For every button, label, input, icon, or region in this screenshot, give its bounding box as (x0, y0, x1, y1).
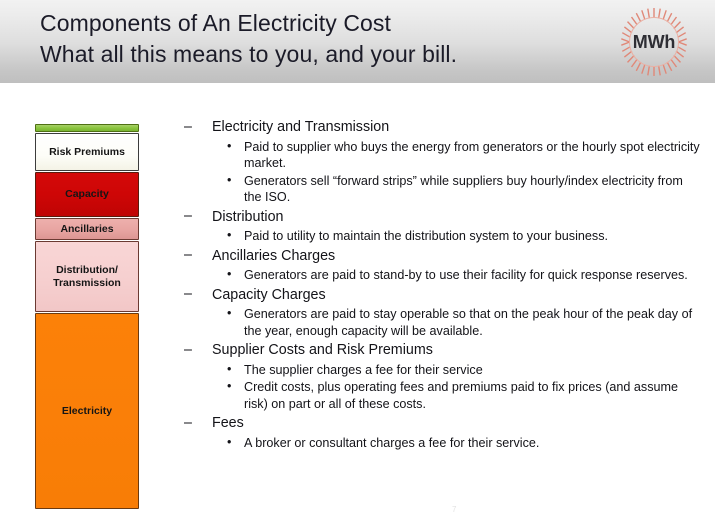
bullet-heading: –Electricity and Transmission (178, 117, 702, 138)
bullet-sub-item: •Generators sell “forward strips” while … (178, 173, 702, 206)
bullet-sub-label: Paid to utility to maintain the distribu… (244, 229, 608, 243)
slide-footer: 7 (0, 505, 715, 516)
electricity-cost-stacked-bar: Risk Premiums Capacity Ancillaries Distr… (35, 124, 139, 510)
bullet-sub-item: •Paid to utility to maintain the distrib… (178, 228, 702, 245)
dash-marker-icon: – (184, 413, 192, 434)
bullet-sub-label: Generators sell “forward strips” while s… (244, 174, 683, 205)
bar-segment-capacity: Capacity (35, 172, 139, 217)
bullet-content: –Electricity and Transmission•Paid to su… (178, 117, 702, 452)
bullet-heading-label: Ancillaries Charges (212, 248, 335, 264)
bullet-heading: –Distribution (178, 207, 702, 228)
bullet-sub-label: Generators are paid to stay operable so … (244, 307, 692, 338)
bullet-heading-label: Fees (212, 415, 244, 431)
dash-marker-icon: – (184, 206, 192, 227)
bullet-sub-label: The supplier charges a fee for their ser… (244, 363, 483, 377)
bullet-heading: –Fees (178, 413, 702, 434)
bullet-heading-label: Distribution (212, 209, 284, 225)
bullet-sub-label: Paid to supplier who buys the energy fro… (244, 140, 700, 171)
bullet-heading-label: Capacity Charges (212, 287, 326, 303)
bullet-sub-item: •Credit costs, plus operating fees and p… (178, 379, 702, 412)
mwh-logo: MWh (615, 3, 693, 81)
page-number: 7 (452, 505, 456, 514)
bullet-dot-icon: • (227, 172, 231, 189)
slide-header-band: Components of An Electricity Cost What a… (0, 0, 715, 83)
bullet-heading: –Capacity Charges (178, 285, 702, 306)
title-line-2: What all this means to you, and your bil… (40, 39, 600, 70)
bullet-dot-icon: • (227, 266, 231, 283)
bullet-dot-icon: • (227, 227, 231, 244)
bar-segment-ancillaries: Ancillaries (35, 218, 139, 240)
bullet-sub-label: A broker or consultant charges a fee for… (244, 436, 539, 450)
dash-marker-icon: – (184, 340, 192, 361)
bar-segment-electricity: Electricity (35, 313, 139, 509)
bullet-heading: –Supplier Costs and Risk Premiums (178, 340, 702, 361)
bar-segment-fees (35, 124, 139, 132)
bullet-sub-item: •Generators are paid to stand-by to use … (178, 267, 702, 284)
bullet-heading-label: Electricity and Transmission (212, 119, 389, 135)
dash-marker-icon: – (184, 284, 192, 305)
bullet-dot-icon: • (227, 378, 231, 395)
bullet-dot-icon: • (227, 138, 231, 155)
title-line-1: Components of An Electricity Cost (40, 8, 600, 39)
bullet-sub-item: •The supplier charges a fee for their se… (178, 362, 702, 379)
bullet-sub-item: •A broker or consultant charges a fee fo… (178, 435, 702, 452)
mwh-logo-label: MWh (615, 3, 693, 81)
bar-segment-distribution: Distribution/ Transmission (35, 241, 139, 312)
bullet-dot-icon: • (227, 305, 231, 322)
bullet-heading-label: Supplier Costs and Risk Premiums (212, 342, 433, 358)
bullet-heading: –Ancillaries Charges (178, 246, 702, 267)
bullet-sub-label: Credit costs, plus operating fees and pr… (244, 380, 678, 411)
bullet-sub-item: •Paid to supplier who buys the energy fr… (178, 139, 702, 172)
bullet-dot-icon: • (227, 434, 231, 451)
dash-marker-icon: – (184, 245, 192, 266)
bullet-sub-label: Generators are paid to stand-by to use t… (244, 268, 688, 282)
bullet-sub-item: •Generators are paid to stay operable so… (178, 306, 702, 339)
page-title: Components of An Electricity Cost What a… (40, 8, 600, 70)
bar-segment-risk-premiums: Risk Premiums (35, 133, 139, 171)
bullet-dot-icon: • (227, 361, 231, 378)
dash-marker-icon: – (184, 117, 192, 138)
